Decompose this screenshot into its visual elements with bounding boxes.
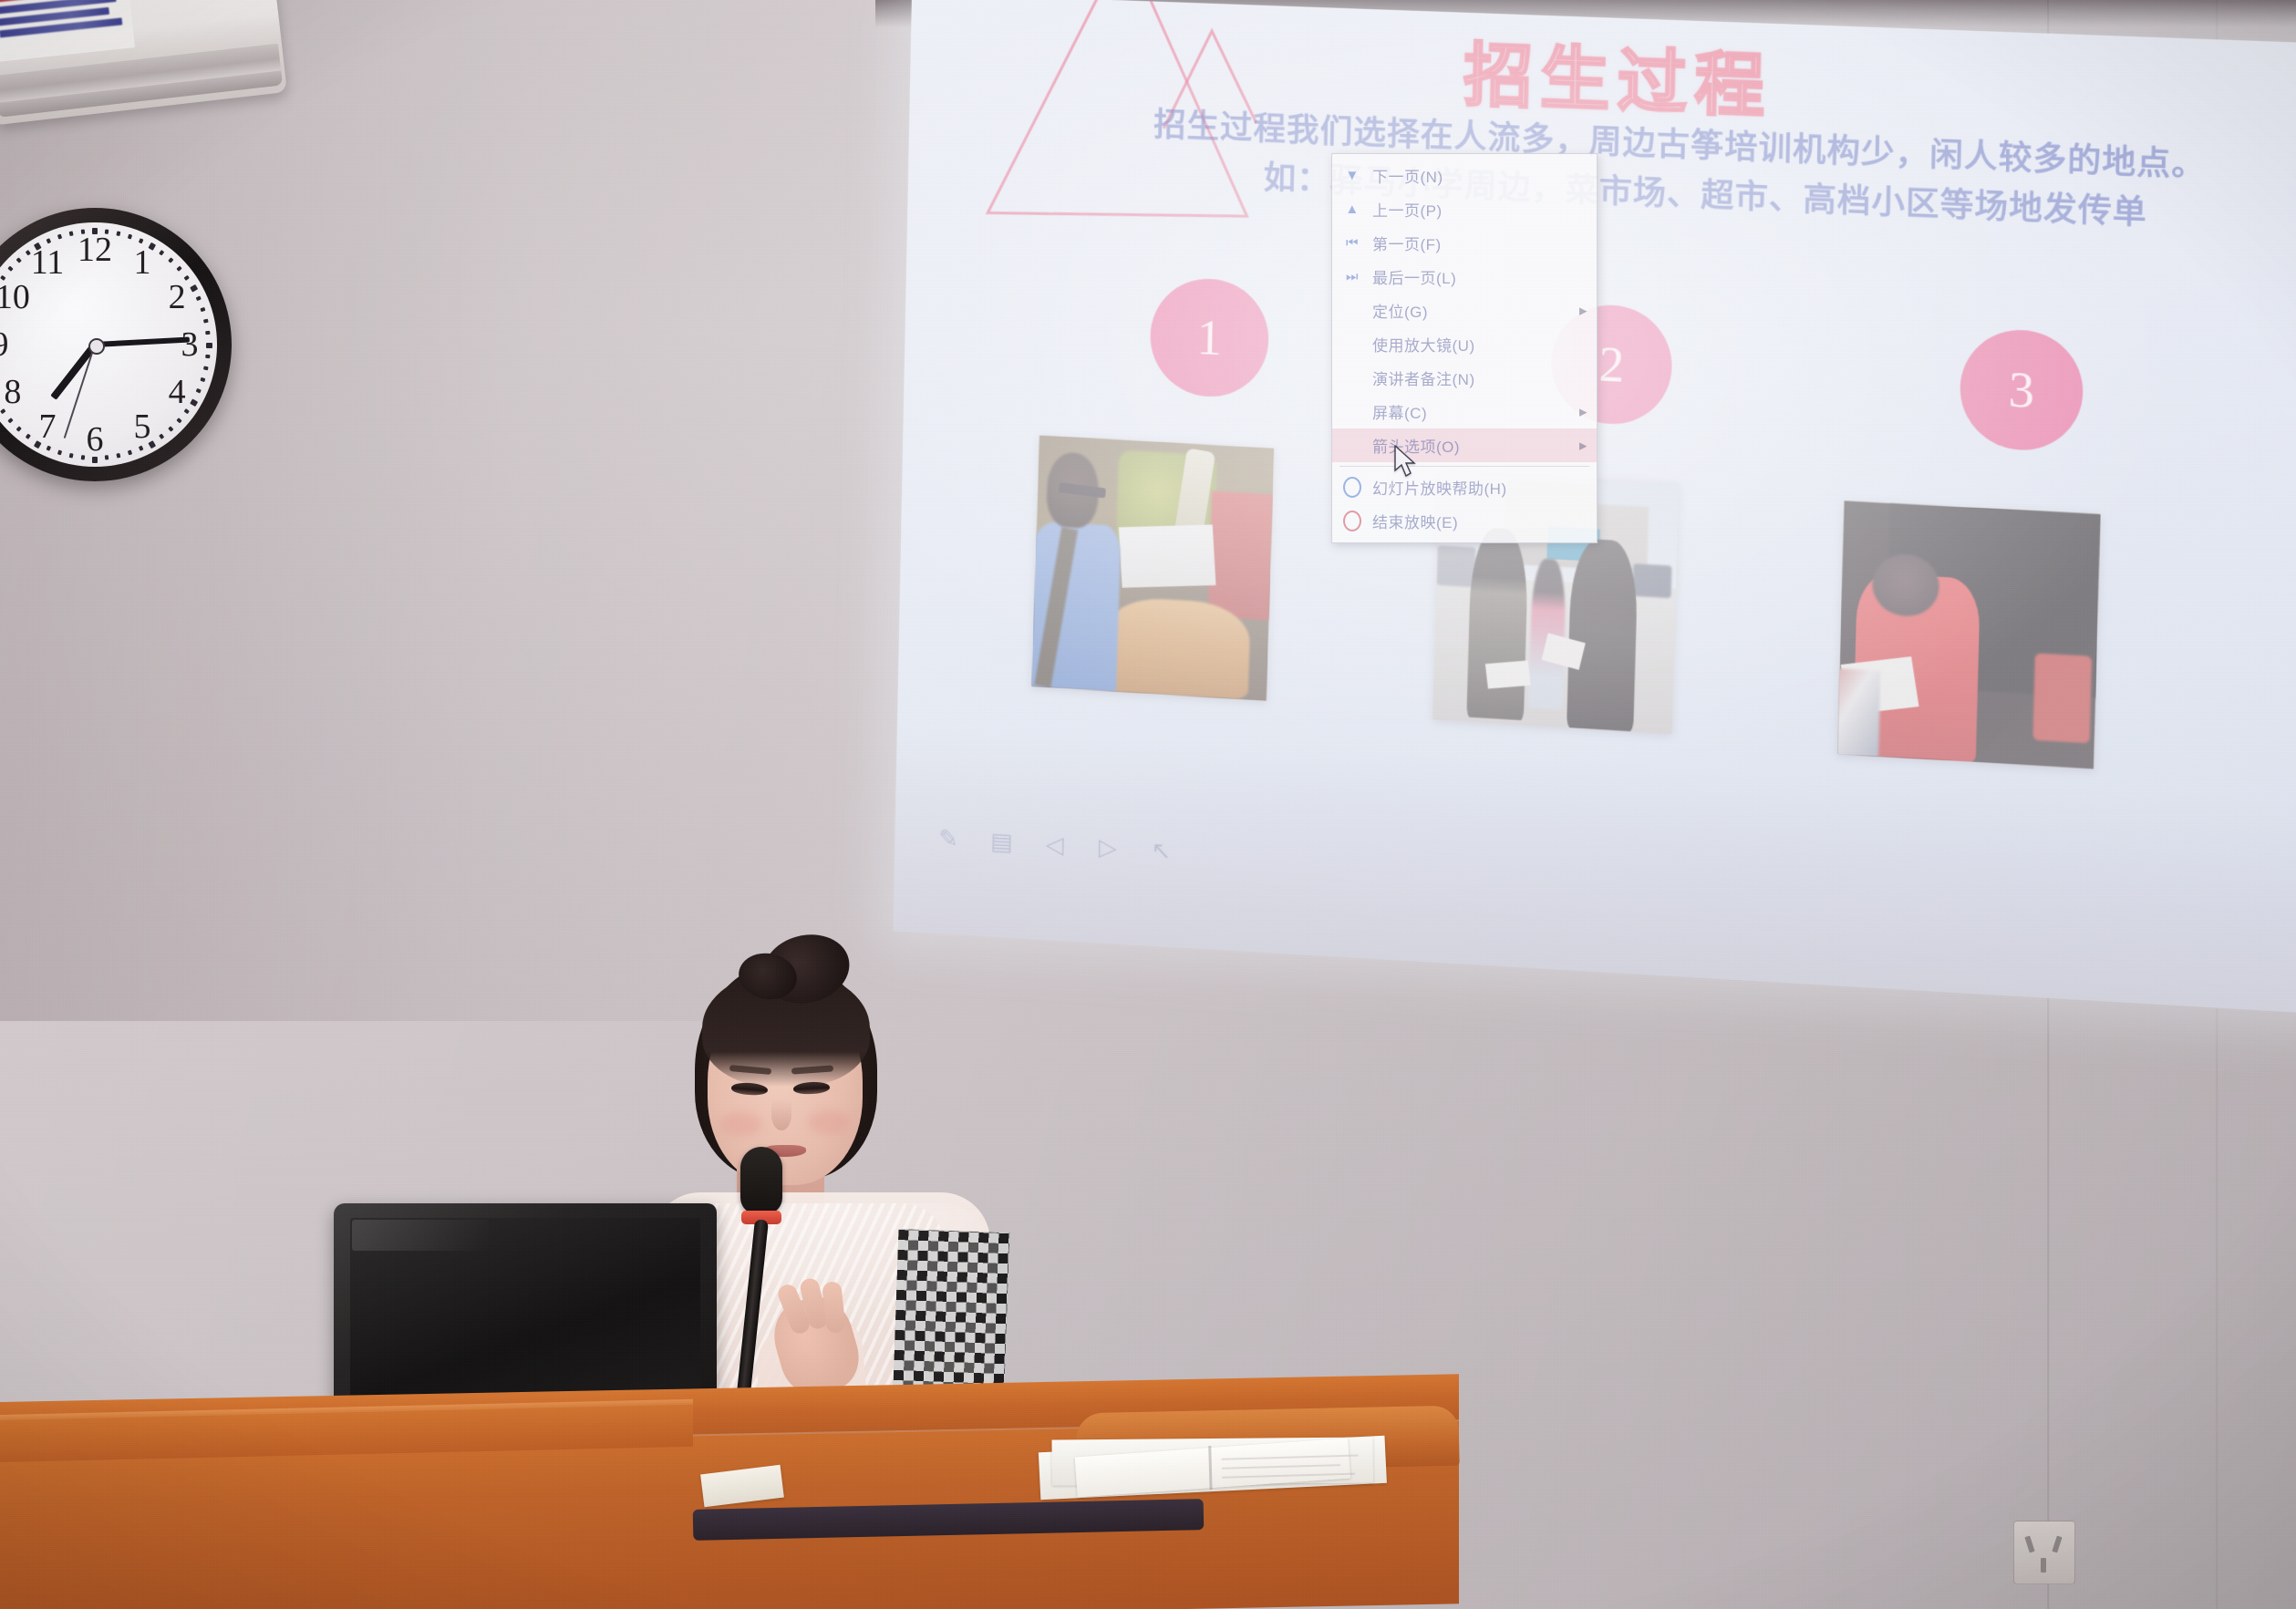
clock-numeral: 7 bbox=[27, 407, 67, 447]
clock-tick bbox=[69, 453, 74, 459]
clock-tick bbox=[203, 319, 209, 324]
clock-tick bbox=[7, 418, 13, 423]
context-menu-item-1[interactable]: ▼下一页(N) bbox=[1332, 159, 1597, 192]
none bbox=[1343, 369, 1361, 387]
photo2-car bbox=[1632, 563, 1671, 598]
clock-tick bbox=[128, 234, 132, 240]
clock-tick bbox=[128, 449, 132, 455]
step-circle-1: 1 bbox=[1149, 276, 1269, 399]
clock-tick bbox=[168, 257, 173, 263]
clock-tick bbox=[176, 266, 181, 272]
context-menu-item-7[interactable]: 演讲者备注(N) bbox=[1332, 361, 1597, 395]
context-menu-item-11[interactable]: 结束放映(E) bbox=[1332, 504, 1597, 538]
skip-forward-icon: ⏭ bbox=[1343, 268, 1361, 286]
none bbox=[1343, 335, 1361, 354]
context-menu-item-label: 最后一页(L) bbox=[1372, 265, 1456, 288]
context-menu-item-label: 演讲者备注(N) bbox=[1372, 366, 1475, 389]
photo1-red-shape bbox=[1207, 490, 1272, 620]
microphone-capsule bbox=[740, 1147, 782, 1214]
context-menu-item-label: 定位(G) bbox=[1372, 299, 1428, 322]
socket-slot bbox=[2052, 1536, 2062, 1553]
clock-numeral: 5 bbox=[122, 407, 162, 447]
none bbox=[1343, 437, 1361, 455]
clock-numeral: 12 bbox=[75, 230, 115, 270]
chevron-right-icon: ▶ bbox=[1579, 439, 1588, 451]
clock-numeral: 2 bbox=[157, 277, 197, 317]
triangle-down-icon: ▼ bbox=[1343, 167, 1361, 185]
help-circle-icon bbox=[1343, 477, 1361, 498]
presenter-nose bbox=[771, 1099, 791, 1130]
clock-numeral: 3 bbox=[170, 325, 210, 365]
clock-numeral: 4 bbox=[157, 372, 197, 412]
next-slide-icon[interactable]: ▷ bbox=[1092, 830, 1124, 863]
photo2-car bbox=[1436, 545, 1475, 587]
menu-icon[interactable]: ▤ bbox=[986, 825, 1018, 858]
clock-tick bbox=[203, 366, 209, 370]
end-show-icon bbox=[1343, 512, 1361, 531]
clock-tick bbox=[200, 377, 205, 382]
chevron-right-icon: ▶ bbox=[1579, 406, 1588, 418]
none bbox=[1343, 302, 1361, 320]
papers-and-notebook bbox=[1039, 1434, 1387, 1510]
mouse-cursor-icon bbox=[1393, 445, 1417, 480]
lecture-room-photo: 121234567891011 招生过程 招生过程我们选择在人流多，周边古筝培训… bbox=[0, 0, 2296, 1609]
powerpoint-slideshow-toolbar[interactable]: ✎ ▤ ◁ ▷ ↖ bbox=[933, 822, 1177, 867]
clock-tick bbox=[16, 257, 22, 263]
step-circle-3: 3 bbox=[1959, 327, 2084, 452]
end-show-icon bbox=[1343, 511, 1361, 531]
none bbox=[1343, 403, 1361, 421]
clock-tick bbox=[16, 426, 22, 431]
socket-slot bbox=[2024, 1536, 2034, 1553]
clock-tick bbox=[57, 449, 62, 455]
monitor-screen-glare bbox=[352, 1220, 489, 1251]
context-menu-item-4[interactable]: ⏭最后一页(L) bbox=[1332, 260, 1597, 294]
context-menu-item-3[interactable]: ⏮第一页(F) bbox=[1332, 226, 1597, 260]
clock-tick bbox=[200, 307, 205, 312]
context-menu-item-label: 屏幕(C) bbox=[1372, 400, 1427, 423]
menu-separator bbox=[1339, 466, 1589, 467]
context-menu-item-label: 第一页(F) bbox=[1372, 232, 1442, 254]
previous-slide-icon[interactable]: ◁ bbox=[1039, 828, 1070, 861]
context-menu-item-6[interactable]: 使用放大镜(U) bbox=[1332, 327, 1597, 361]
context-menu-item-9[interactable]: 箭头选项(O)▶ bbox=[1332, 428, 1597, 462]
wall-socket bbox=[2013, 1521, 2075, 1584]
clock-numeral: 9 bbox=[0, 325, 20, 365]
photo2-person bbox=[1466, 527, 1528, 719]
skip-back-icon: ⏮ bbox=[1343, 234, 1361, 253]
clock-tick bbox=[116, 453, 120, 459]
context-menu-item-label: 下一页(N) bbox=[1372, 164, 1443, 187]
photo3-red-chair bbox=[2032, 654, 2092, 743]
context-menu-item-10[interactable]: 幻灯片放映帮助(H) bbox=[1332, 470, 1597, 504]
context-menu-item-8[interactable]: 屏幕(C)▶ bbox=[1332, 395, 1597, 428]
clock-numeral: 11 bbox=[27, 242, 67, 283]
wall-clock: 121234567891011 bbox=[0, 208, 232, 481]
chevron-right-icon: ▶ bbox=[1579, 304, 1588, 316]
clock-tick bbox=[69, 231, 74, 236]
powerpoint-slideshow-context-menu[interactable]: ▼下一页(N)▲上一页(P)⏮第一页(F)⏭最后一页(L)定位(G)▶使用放大镜… bbox=[1331, 153, 1598, 543]
context-menu-item-label: 结束放映(E) bbox=[1372, 510, 1458, 532]
presenter-cheek bbox=[720, 1112, 762, 1136]
clock-tick bbox=[57, 234, 62, 240]
help-circle-icon bbox=[1343, 479, 1361, 497]
context-menu-item-label: 上一页(P) bbox=[1372, 198, 1443, 221]
slide-photo-1 bbox=[1032, 435, 1275, 701]
clock-tick bbox=[7, 266, 13, 272]
presenter-cheek bbox=[808, 1110, 850, 1134]
pen-icon[interactable]: ✎ bbox=[933, 822, 965, 855]
clock-numeral: 10 bbox=[0, 277, 33, 317]
triangle-up-icon: ▲ bbox=[1343, 201, 1361, 219]
clock-numeral: 6 bbox=[75, 419, 115, 459]
photo3-left-figures bbox=[1837, 664, 1880, 767]
clock-center-cap bbox=[88, 338, 105, 355]
context-menu-item-label: 使用放大镜(U) bbox=[1372, 333, 1475, 356]
clock-numeral: 8 bbox=[0, 372, 33, 412]
clock-tick bbox=[176, 418, 181, 423]
photo1-flyer bbox=[1119, 524, 1216, 587]
photo2-flyer bbox=[1485, 660, 1531, 688]
socket-slot bbox=[2041, 1558, 2046, 1573]
context-menu-item-5[interactable]: 定位(G)▶ bbox=[1332, 294, 1597, 327]
clock-tick bbox=[168, 426, 173, 431]
clock-tick bbox=[116, 231, 120, 236]
pointer-icon[interactable]: ↖ bbox=[1145, 834, 1177, 867]
photo1-bread bbox=[1101, 595, 1250, 700]
context-menu-item-2[interactable]: ▲上一页(P) bbox=[1332, 192, 1597, 226]
photo2-person bbox=[1567, 538, 1639, 732]
slide-photo-3 bbox=[1837, 500, 2100, 768]
